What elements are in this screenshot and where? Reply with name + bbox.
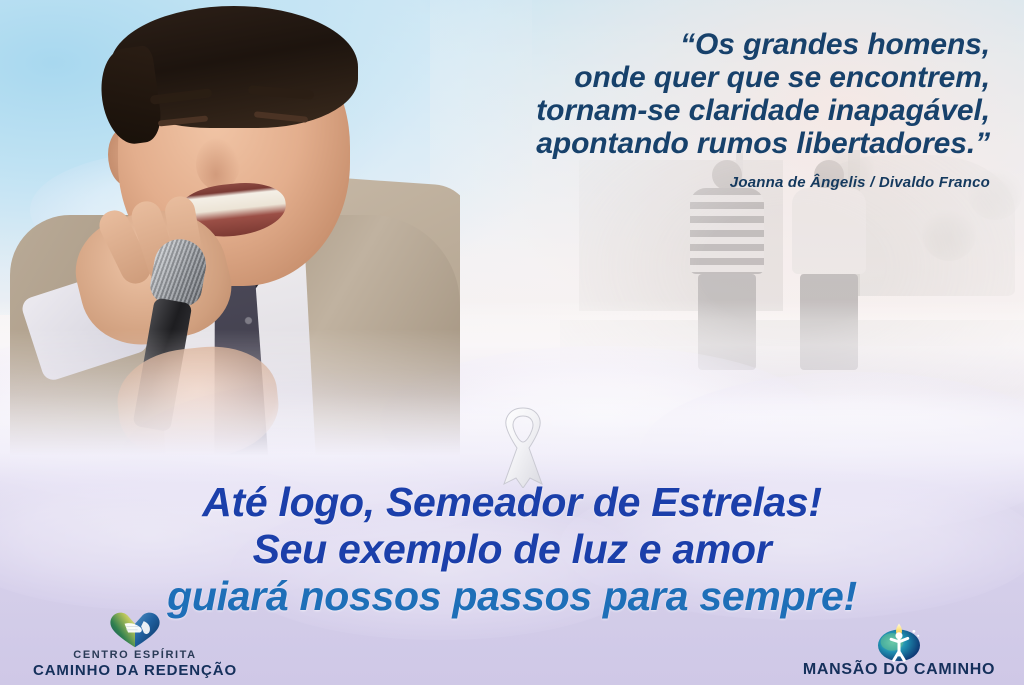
microphone-head — [147, 235, 210, 309]
memorial-poster: “Os grandes homens, onde quer que se enc… — [0, 0, 1024, 685]
quote-line-2: onde quer que se encontrem, — [370, 61, 990, 94]
photo-man-striped-shirt — [690, 160, 764, 370]
logo-right-line-1: MANSÃO DO CAMINHO — [784, 661, 1014, 679]
mourning-ribbon-icon — [486, 404, 560, 488]
photo-man-white-shirt — [792, 160, 866, 370]
photo-man-torso — [690, 188, 764, 274]
photo-man-legs — [698, 274, 756, 370]
photo-palm-2 — [922, 207, 976, 261]
portrait-nose — [196, 138, 240, 190]
globe-figure-flame-icon — [784, 621, 1014, 661]
headline-block: Até logo, Semeador de Estrelas! Seu exem… — [0, 482, 1024, 617]
headline-line-1: Até logo, Semeador de Estrelas! — [0, 482, 1024, 523]
heart-hands-icon — [10, 609, 260, 649]
quote-attribution: Joanna de Ângelis / Divaldo Franco — [370, 174, 990, 191]
quote-block: “Os grandes homens, onde quer que se enc… — [370, 28, 990, 191]
quote-line-3: tornam-se claridade inapagável, — [370, 94, 990, 127]
logo-centro-espirita[interactable]: CENTRO ESPÍRITA CAMINHO DA REDENÇÃO — [10, 609, 260, 679]
quote-line-4: apontando rumos libertadores.” — [370, 127, 990, 160]
quote-line-1: “Os grandes homens, — [370, 28, 990, 61]
photo-man-legs — [800, 274, 858, 370]
logo-left-line-2: CAMINHO DA REDENÇÃO — [10, 662, 260, 679]
logo-mansao-do-caminho[interactable]: MANSÃO DO CAMINHO — [784, 621, 1014, 679]
logo-left-line-1: CENTRO ESPÍRITA — [10, 649, 260, 662]
headline-line-2: Seu exemplo de luz e amor — [0, 529, 1024, 570]
photo-man-torso — [792, 188, 866, 274]
